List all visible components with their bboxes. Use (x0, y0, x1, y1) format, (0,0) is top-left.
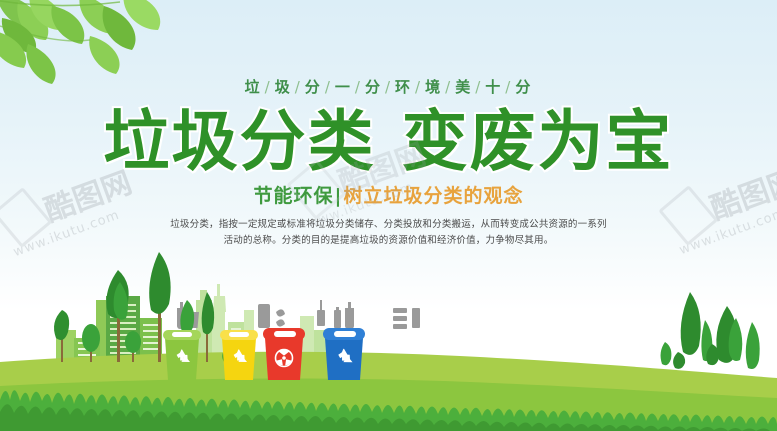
kicker-char: 美 (455, 78, 472, 96)
kicker-separator: / (442, 78, 455, 96)
poster-text-block: 垃/圾/分/一/分/环/境/美/十/分 垃圾分类变废为宝 节能环保|树立垃圾分类… (0, 0, 777, 248)
kicker-separator: / (352, 78, 365, 96)
kicker-separator: / (322, 78, 335, 96)
kicker-separator: / (412, 78, 425, 96)
kicker-line: 垃/圾/分/一/分/环/境/美/十/分 (0, 80, 777, 95)
kicker-char: 圾 (275, 78, 292, 96)
kicker-char: 十 (485, 78, 502, 96)
subtitle-green: 节能环保 (254, 185, 334, 207)
kicker-separator: / (472, 78, 485, 96)
poster-canvas: 垃/圾/分/一/分/环/境/美/十/分 垃圾分类变废为宝 节能环保|树立垃圾分类… (0, 0, 777, 431)
kicker-char: 分 (515, 78, 532, 96)
description-paragraph: 垃圾分类，指按一定规定或标准将垃圾分类储存、分类投放和分类搬运，从而转变成公共资… (169, 217, 609, 248)
kicker-char: 环 (395, 78, 412, 96)
kicker-char: 境 (425, 78, 442, 96)
kicker-char: 分 (305, 78, 322, 96)
title-right: 变废为宝 (402, 103, 674, 180)
kicker-char: 一 (335, 78, 352, 96)
kicker-char: 垃 (245, 78, 262, 96)
title-left: 垃圾分类 (104, 103, 376, 180)
kicker-separator: / (382, 78, 395, 96)
page-title: 垃圾分类变废为宝 (0, 109, 777, 175)
subtitle-orange: 树立垃圾分类的观念 (343, 185, 523, 207)
subtitle-line: 节能环保|树立垃圾分类的观念 (0, 187, 777, 206)
kicker-separator: / (262, 78, 275, 96)
kicker-separator: / (292, 78, 305, 96)
subtitle-divider: | (334, 185, 344, 207)
kicker-char: 分 (365, 78, 382, 96)
kicker-separator: / (502, 78, 515, 96)
